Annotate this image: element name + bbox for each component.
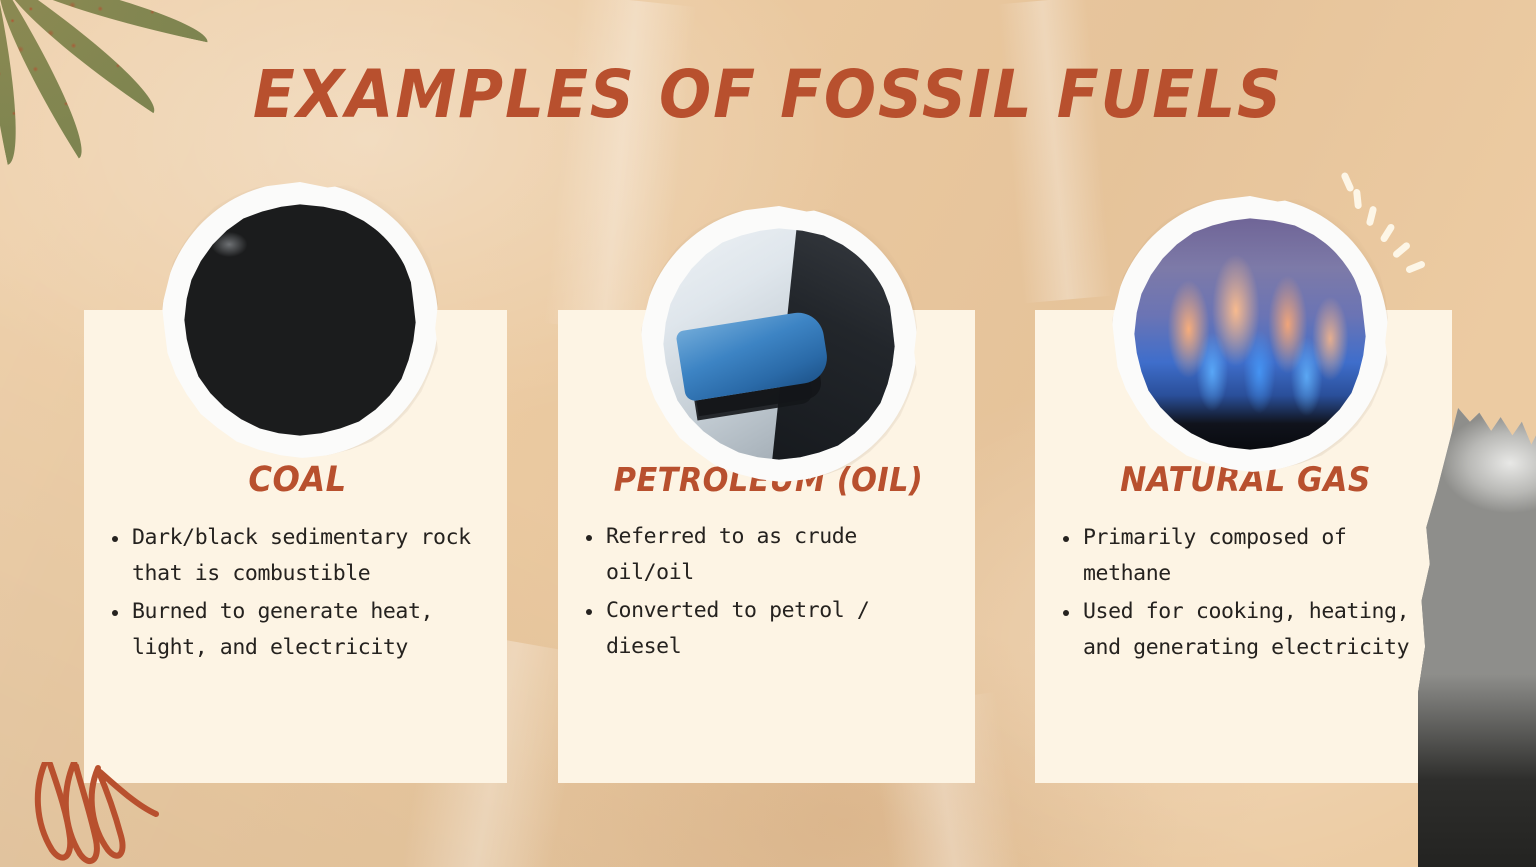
card-coal-heading: COAL: [125, 460, 470, 500]
sparkle-ray: [1379, 223, 1396, 244]
sparkle-ray: [1392, 241, 1412, 259]
list-item: Referred to as crude oil/oil: [584, 519, 953, 591]
sparkle-ray: [1353, 189, 1362, 210]
page-title: EXAMPLES OF FOSSIL FUELS: [54, 56, 1482, 133]
scribble-loop-icon: [26, 762, 176, 867]
sparkle-ray: [1340, 171, 1355, 192]
list-item: Primarily composed of methane: [1061, 520, 1430, 592]
card-natural-gas-body: NATURAL GAS Primarily composed of methan…: [1035, 460, 1452, 668]
card-coal-body: COAL Dark/black sedimentary rock that is…: [84, 460, 507, 668]
list-item: Dark/black sedimentary rock that is comb…: [110, 520, 485, 592]
sparkle-rays-icon: [1318, 152, 1428, 264]
slide-canvas: EXAMPLES OF FOSSIL FUELS COAL Dark/black…: [0, 0, 1536, 867]
sparkle-ray: [1366, 205, 1378, 226]
coal-photo: [162, 182, 438, 458]
list-item: Burned to generate heat, light, and elec…: [110, 594, 485, 666]
card-coal-bullets: Dark/black sedimentary rock that is comb…: [110, 520, 485, 666]
list-item: Used for cooking, heating, and generatin…: [1061, 594, 1430, 666]
list-item: Converted to petrol / diesel: [584, 593, 953, 665]
card-natural-gas-bullets: Primarily composed of methane Used for c…: [1061, 520, 1430, 666]
card-petroleum-body: PETROLEUM (OIL) Referred to as crude oil…: [558, 460, 975, 667]
paper-crease: [997, 0, 1113, 303]
card-petroleum-bullets: Referred to as crude oil/oil Converted t…: [584, 519, 953, 665]
petroleum-photo: [641, 206, 917, 482]
sparkle-ray: [1405, 260, 1426, 274]
